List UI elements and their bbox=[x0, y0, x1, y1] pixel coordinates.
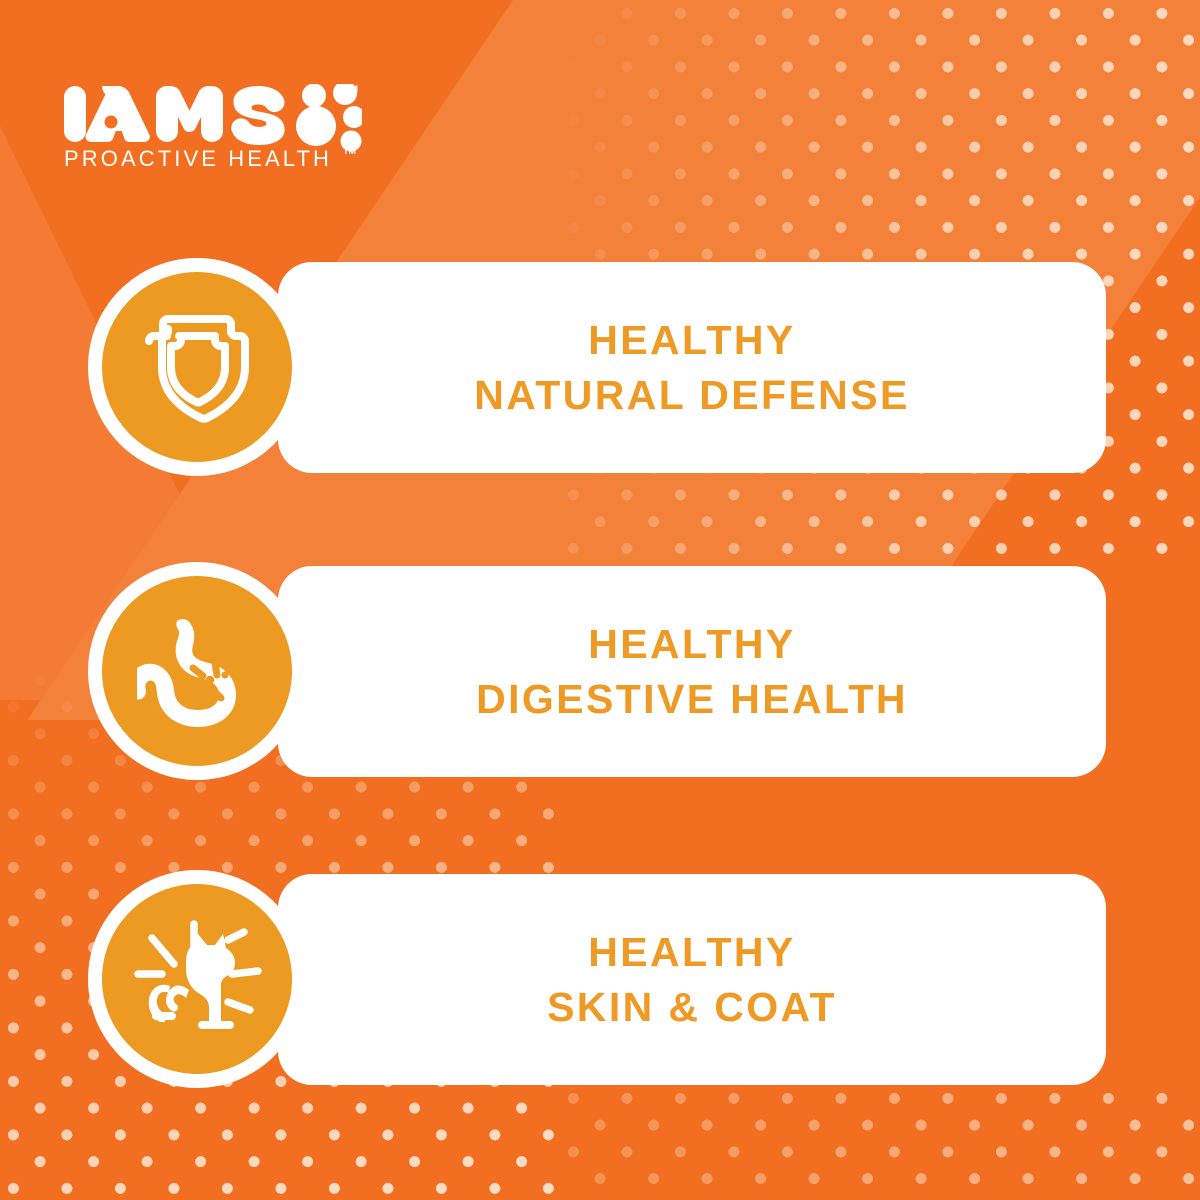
svg-text:TM: TM bbox=[343, 146, 356, 156]
benefit-title: HEALTHY NATURAL DEFENSE bbox=[474, 313, 909, 423]
stomach-icon bbox=[102, 576, 292, 766]
benefit-row-healthy-skin-and-coat[interactable]: HEALTHY SKIN & COAT bbox=[88, 870, 1108, 1088]
benefit-badge bbox=[88, 258, 306, 476]
benefit-badge bbox=[88, 562, 306, 780]
benefit-title: HEALTHY DIGESTIVE HEALTH bbox=[476, 617, 908, 727]
cat-shine-icon bbox=[102, 884, 292, 1074]
benefit-row-healthy-natural-defense[interactable]: HEALTHY NATURAL DEFENSE bbox=[88, 258, 1108, 476]
benefit-row-healthy-digestive-health[interactable]: HEALTHY DIGESTIVE HEALTH bbox=[88, 562, 1108, 780]
benefit-card[interactable]: HEALTHY NATURAL DEFENSE bbox=[278, 262, 1106, 473]
svg-text:TM: TM bbox=[345, 84, 358, 94]
promo-graphic: TM PROACTIVE HEALTH TM HEALTHY NATURAL D… bbox=[0, 0, 1200, 1200]
dot-pattern-bottom-right bbox=[560, 1085, 1200, 1200]
benefit-card[interactable]: HEALTHY SKIN & COAT bbox=[278, 874, 1106, 1085]
benefit-title: HEALTHY SKIN & COAT bbox=[547, 925, 837, 1035]
iams-logo: TM PROACTIVE HEALTH TM bbox=[62, 84, 362, 170]
shield-icon bbox=[102, 272, 292, 462]
benefit-card[interactable]: HEALTHY DIGESTIVE HEALTH bbox=[278, 566, 1106, 777]
logo-tagline: PROACTIVE HEALTH bbox=[64, 146, 332, 170]
benefit-badge bbox=[88, 870, 306, 1088]
